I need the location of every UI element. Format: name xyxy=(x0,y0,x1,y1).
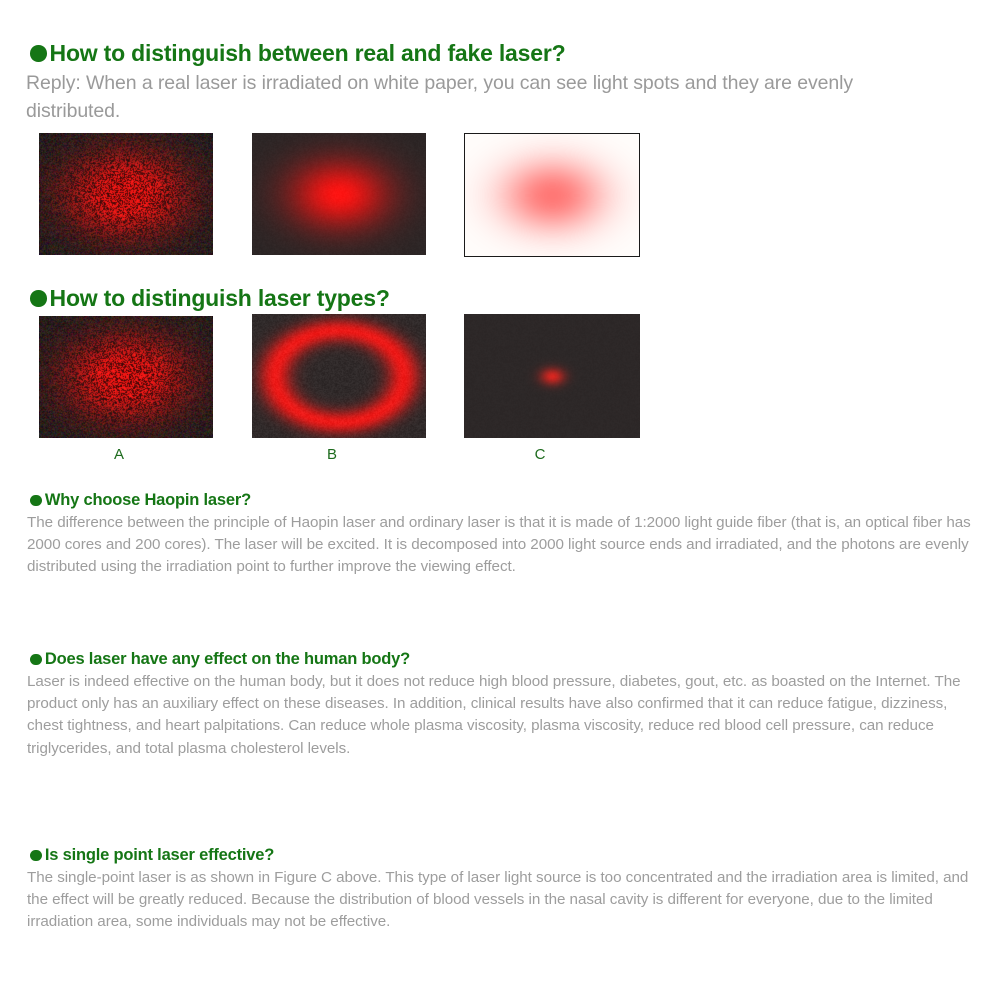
paragraph-why-haopin: The difference between the principle of … xyxy=(27,512,975,579)
paragraph-single-point-effective: The single-point laser is as shown in Fi… xyxy=(27,867,972,934)
heading-single-point-effective: Is single point laser effective? xyxy=(30,846,274,865)
heading-human-body-effect: Does laser have any effect on the human … xyxy=(30,650,410,669)
figure-speckled-red-spot-2 xyxy=(39,316,213,438)
figure-faint-red-glow-white xyxy=(464,133,640,257)
heading-text: How to distinguish between real and fake… xyxy=(50,40,566,67)
heading-text: Does laser have any effect on the human … xyxy=(45,650,410,669)
heading-real-vs-fake: How to distinguish between real and fake… xyxy=(30,40,565,67)
figure-caption-c: C xyxy=(507,446,573,463)
heading-text: Is single point laser effective? xyxy=(45,846,274,865)
figure-speckled-red-spot-1 xyxy=(39,133,213,255)
figure-caption-a: A xyxy=(86,446,152,463)
figure-caption-b: B xyxy=(299,446,365,463)
reply-real-vs-fake: Reply: When a real laser is irradiated o… xyxy=(26,70,906,125)
figure-smooth-red-glow-dark xyxy=(252,133,426,255)
bullet-icon xyxy=(30,850,42,862)
heading-text: How to distinguish laser types? xyxy=(50,285,390,312)
bullet-icon xyxy=(30,290,47,307)
paragraph-human-body-effect: Laser is indeed effective on the human b… xyxy=(27,671,967,760)
bullet-icon xyxy=(30,45,47,62)
heading-text: Why choose Haopin laser? xyxy=(45,491,251,510)
figure-red-ring-donut xyxy=(252,314,426,438)
bullet-icon xyxy=(30,495,42,507)
heading-laser-types: How to distinguish laser types? xyxy=(30,285,390,312)
faq-page: How to distinguish between real and fake… xyxy=(0,0,1000,1000)
bullet-icon xyxy=(30,654,42,666)
heading-why-haopin: Why choose Haopin laser? xyxy=(30,491,251,510)
figure-single-point-dot xyxy=(464,314,640,438)
